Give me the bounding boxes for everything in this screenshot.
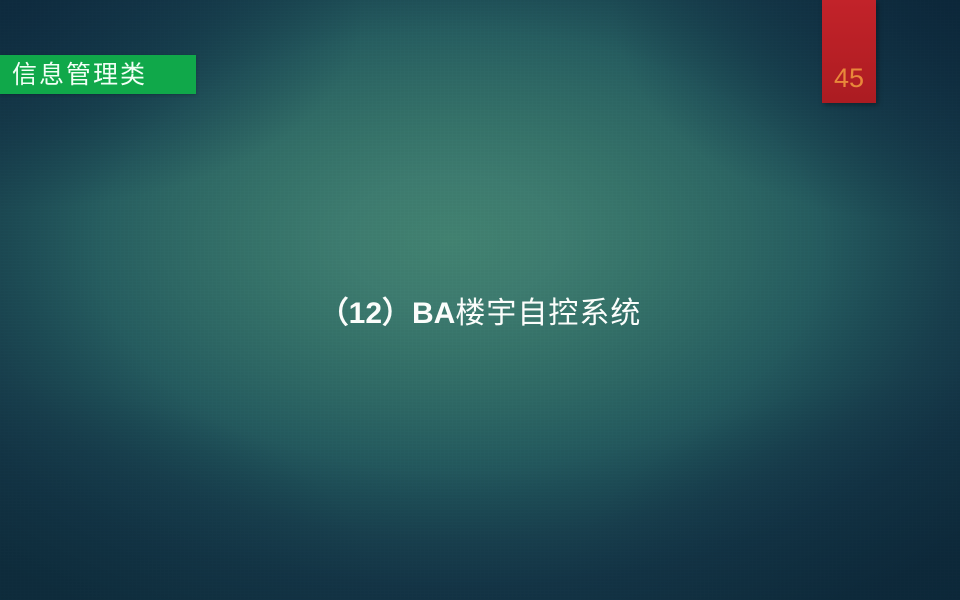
slide-canvas: 信息管理类 45 （12）BA楼宇自控系统 <box>0 0 960 600</box>
slide-title-lead: （12）BA <box>319 297 456 330</box>
page-number-text: 45 <box>822 65 876 92</box>
slide-title: （12）BA楼宇自控系统 <box>0 288 960 332</box>
category-badge-label: 信息管理类 <box>0 62 147 87</box>
slide-title-main: 楼宇自控系统 <box>455 296 641 331</box>
page-number-badge: 45 <box>822 0 876 103</box>
category-badge: 信息管理类 <box>0 55 196 94</box>
